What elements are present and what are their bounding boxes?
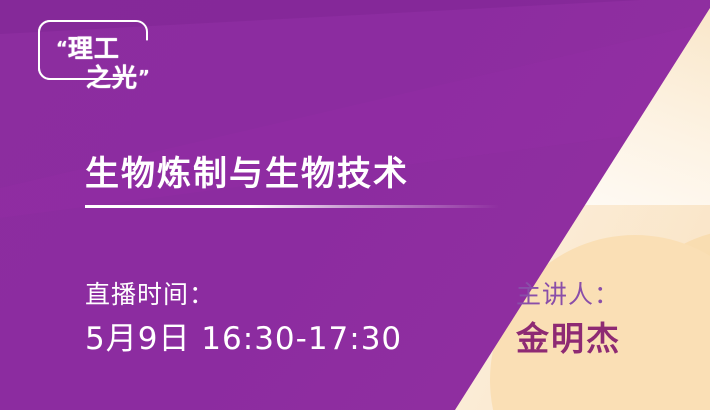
speaker-name: 金明杰 bbox=[516, 312, 621, 360]
logo-quote-close-icon: ” bbox=[138, 67, 150, 88]
schedule-label: 直播时间： bbox=[85, 275, 215, 311]
title-divider bbox=[85, 205, 500, 208]
logo-quote-open-icon: “ bbox=[56, 38, 68, 59]
logo-line2-label: 之光 bbox=[86, 63, 138, 92]
logo-text-line-2: 之光” bbox=[86, 65, 150, 91]
brand-logo: “理工 之光” bbox=[38, 20, 156, 98]
live-stream-poster: “理工 之光” 生物炼制与生物技术 直播时间： 5月9日 16:30-17:30… bbox=[0, 0, 710, 410]
logo-text-line-1: “理工 bbox=[56, 36, 120, 62]
logo-line1-label: 理工 bbox=[68, 34, 120, 63]
schedule-value: 5月9日 16:30-17:30 bbox=[85, 313, 402, 358]
page-title: 生物炼制与生物技术 bbox=[85, 146, 409, 195]
speaker-label: 主讲人： bbox=[516, 275, 620, 311]
